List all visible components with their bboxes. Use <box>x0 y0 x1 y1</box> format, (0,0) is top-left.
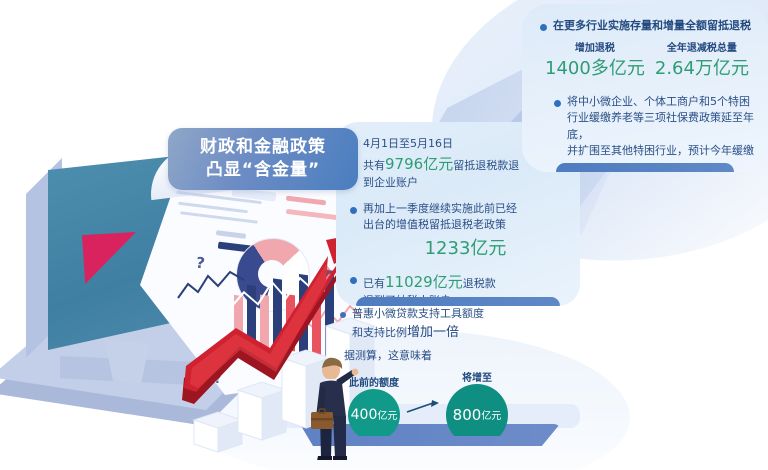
stat-unit: 亿元 <box>609 58 645 79</box>
stat-value: 1400 <box>545 58 591 79</box>
item2-amount-unit: 亿元 <box>470 238 506 259</box>
desk-front <box>60 356 260 386</box>
item1-line3: 到企业账户 <box>363 175 519 192</box>
panel-item: 普惠小微贷款支持工具额度 和支持比例增加一倍 <box>340 306 560 342</box>
item3-amount: 11029 <box>385 273 433 291</box>
pie-chart-center <box>258 260 286 288</box>
item1-amount: 9796 <box>385 155 423 173</box>
bullet-dot-icon <box>540 24 547 31</box>
after-amount-circle: 800亿元 <box>446 384 508 437</box>
item1-prefix: 共有 <box>363 159 385 172</box>
printout-text-line <box>216 230 246 239</box>
policy2-line1: 将中小微企业、个体工商户和5个特困 <box>567 94 754 111</box>
monitor-stand <box>92 340 162 384</box>
item3-amount-unit: 亿元 <box>433 273 463 291</box>
stat-block: 增加退税 1400多亿元 <box>545 39 645 80</box>
stat-unit: 万亿元 <box>695 58 749 79</box>
before-amount-unit: 亿元 <box>377 407 397 422</box>
before-amount-circle: 400亿元 <box>348 389 400 437</box>
growth-arrow-icon <box>406 400 440 414</box>
loan-note: 据测算，这意味着 <box>344 348 560 365</box>
monitor-pink-shape <box>82 232 136 284</box>
infographic-canvas: ? ? ? <box>0 0 768 470</box>
question-mark-glyph: ? <box>195 253 206 272</box>
stat-label: 增加退税 <box>545 39 645 54</box>
bullet-dot-icon <box>340 312 346 318</box>
item2-line1: 再加上一季度继续实施此前已经 <box>363 201 568 218</box>
policy-heading: 在更多行业实施存量和增量全额留抵退税 <box>553 18 751 35</box>
after-amount-label: 将增至 <box>446 369 508 384</box>
printout-accent-line <box>286 196 326 206</box>
line-chart-graphic <box>176 268 246 304</box>
inclusive-loan-panel: 普惠小微贷款支持工具额度 和支持比例增加一倍 据测算，这意味着 此前的额度 40… <box>330 300 568 436</box>
stat-suffix: 多 <box>591 58 609 79</box>
loan-line2-emphasis: 增加一倍 <box>407 325 459 340</box>
before-amount-label: 此前的额度 <box>348 374 400 389</box>
after-amount-value: 800 <box>453 406 482 424</box>
page-title: 财政和金融政策 凸显“含金量” <box>168 128 358 190</box>
stat-block: 全年退减税总量 2.64万亿元 <box>655 39 749 80</box>
tax-policy-panel: 在更多行业实施存量和增量全额留抵退税 增加退税 1400多亿元 全年退减税总量 … <box>522 4 768 172</box>
item3-suffix: 退税款 <box>463 277 496 290</box>
page-title-line1: 财政和金融政策 <box>200 136 326 159</box>
item1-amount-unit: 亿元 <box>423 155 453 173</box>
printout-dark-bar <box>218 242 259 254</box>
desk-edge <box>0 316 290 426</box>
policy2-line3: 并扩围至其他特困行业，预计今年缓缴 <box>567 143 754 160</box>
printout-accent-line <box>286 209 338 220</box>
item2-amount: 1233 <box>425 238 471 259</box>
question-mark-glyph: ? <box>214 372 222 387</box>
bullet-dot-icon <box>554 100 561 107</box>
item3-prefix: 已有 <box>363 277 385 290</box>
monitor-screen-card <box>74 228 154 302</box>
panel-item: 在更多行业实施存量和增量全额留抵退税 <box>540 18 754 35</box>
bullet-dot-icon <box>350 277 357 284</box>
item1-suffix: 留抵退税款退 <box>453 159 519 172</box>
loan-line1: 普惠小微贷款支持工具额度 <box>352 306 484 323</box>
after-amount-unit: 亿元 <box>481 407 501 422</box>
stat-label: 全年退减税总量 <box>655 39 749 54</box>
panel-item: 再加上一季度继续实施此前已经 出台的增值税留抵退税老政策 1233亿元 <box>350 201 568 262</box>
item2-line2: 出台的增值税留抵退税老政策 <box>363 217 568 234</box>
loan-line2-prefix: 和支持比例 <box>352 326 407 339</box>
desk-surface <box>0 300 290 410</box>
panel-item: 将中小微企业、个体工商户和5个特困 行业缓缴养老等三项社保费政策延至年底， 并扩… <box>554 94 754 173</box>
bullet-dot-icon <box>350 207 357 214</box>
page-title-line2: 凸显“含金量” <box>206 159 320 182</box>
item1-date-range: 4月1日至5月16日 <box>363 136 519 153</box>
panel-footer-band <box>556 163 733 172</box>
stat-value: 2.64 <box>655 58 695 79</box>
question-mark-glyph: ? <box>299 278 309 295</box>
monitor-side <box>26 158 62 358</box>
before-amount-value: 400 <box>351 407 378 423</box>
policy2-line2: 行业缓缴养老等三项社保费政策延至年底， <box>567 110 754 143</box>
